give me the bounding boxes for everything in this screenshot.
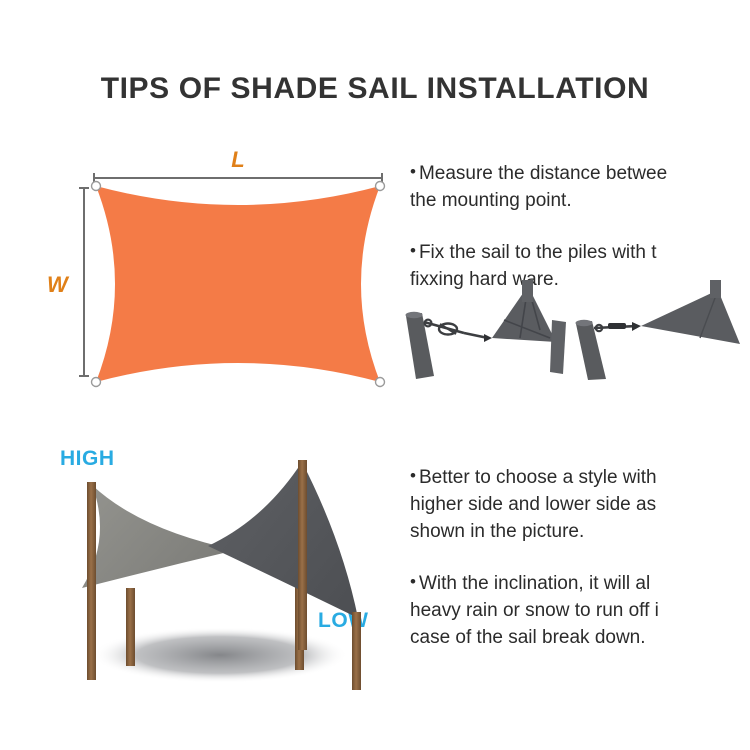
post-front-right-low [352, 612, 361, 690]
width-label: W [47, 272, 68, 298]
post-rear-left [126, 588, 135, 666]
post-cap [406, 312, 423, 318]
tip-line: higher side and lower side as [410, 491, 659, 518]
dimension-bar [83, 187, 85, 377]
sail-body [96, 186, 380, 382]
mounting-post-right [550, 320, 566, 374]
post-cap [576, 320, 593, 326]
cable-clamp [484, 334, 492, 342]
hardware-assembly-right [576, 280, 741, 380]
grommet-bottom-left [92, 378, 101, 387]
grommet-bottom-right [376, 378, 385, 387]
tip-text: Better to choose a style with [419, 467, 657, 488]
fixing-hardware-illustration [400, 280, 750, 380]
width-dimension-line [79, 187, 88, 377]
infographic-page: TIPS OF SHADE SAIL INSTALLATION L W •Mea… [0, 0, 750, 750]
bullet-icon: • [410, 572, 416, 591]
sail-right [208, 462, 358, 618]
tip-line: shown in the picture. [410, 518, 659, 545]
bullet-icon: • [410, 241, 416, 260]
tip-line: •Better to choose a style with [410, 462, 659, 491]
post-front-right-high [298, 460, 307, 650]
tip-line: •Measure the distance betwee [410, 158, 667, 187]
tip-item: •With the inclination, it will al heavy … [410, 568, 659, 651]
grommet-top-left [92, 182, 101, 191]
orange-shade-sail-illustration [88, 178, 388, 390]
inclined-canopy-illustration [40, 440, 400, 705]
tips-list-bottom: •Better to choose a style with higher si… [410, 462, 659, 651]
tips-list-top: •Measure the distance betwee the mountin… [410, 158, 667, 293]
mounting-post-top [522, 280, 533, 302]
bullet-icon: • [410, 162, 416, 181]
mounting-post-top [710, 280, 721, 298]
sail-left [82, 485, 236, 588]
cable-clamp [632, 322, 641, 331]
tip-line: •Fix the sail to the piles with t [410, 237, 667, 266]
turnbuckle [608, 323, 626, 329]
tip-line: case of the sail break down. [410, 624, 659, 651]
tip-line: the mounting point. [410, 187, 667, 214]
post-front-left-high [87, 482, 96, 680]
page-title: TIPS OF SHADE SAIL INSTALLATION [0, 72, 750, 106]
hardware-assembly-left [406, 280, 567, 379]
sail-corner [641, 290, 740, 344]
grommet-top-right [376, 182, 385, 191]
tip-item: •Better to choose a style with higher si… [410, 462, 659, 545]
tip-line: heavy rain or snow to run off i [410, 597, 659, 624]
tip-text: With the inclination, it will al [419, 573, 650, 594]
tip-text: Fix the sail to the piles with t [419, 242, 657, 263]
bullet-icon: • [410, 466, 416, 485]
tip-text: Measure the distance betwee [419, 163, 667, 184]
length-label: L [93, 147, 383, 173]
tip-line: •With the inclination, it will al [410, 568, 659, 597]
tip-item: •Measure the distance betwee the mountin… [410, 158, 667, 214]
